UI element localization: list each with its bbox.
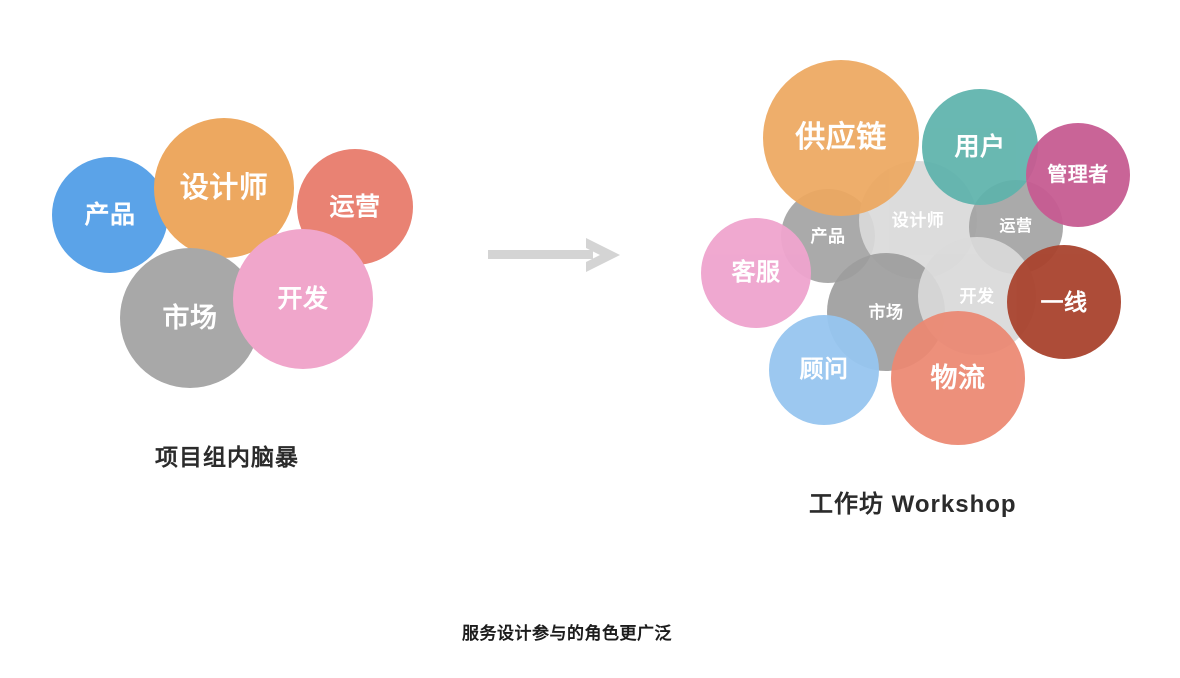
bubble-label: 客服 [732, 261, 781, 285]
bubble-customer-service[interactable]: 客服 [701, 218, 811, 328]
bubble-development[interactable]: 开发 [233, 229, 373, 369]
bubble-label: 开发 [277, 287, 328, 312]
bubble-label: 顾问 [800, 358, 849, 382]
bubble-label: 管理者 [1047, 165, 1109, 185]
bubble-logistics[interactable]: 物流 [891, 311, 1025, 445]
bubble-consultant[interactable]: 顾问 [769, 315, 879, 425]
bubble-label: 设计师 [892, 212, 945, 229]
bubble-label: 运营 [999, 219, 1032, 235]
right-cluster-caption: 工作坊 Workshop [809, 484, 1017, 519]
diagram-footnote: 服务设计参与的角色更广泛 [462, 619, 672, 644]
bubble-label: 一线 [1041, 291, 1088, 314]
bubble-label: 开发 [960, 288, 995, 305]
left-cluster-caption: 项目组内脑暴 [155, 438, 299, 472]
bubble-label: 物流 [931, 365, 986, 392]
bubble-label: 市场 [163, 305, 218, 332]
transition-arrow [488, 236, 620, 279]
bubble-label: 产品 [84, 203, 135, 228]
bubble-label: 供应链 [795, 123, 887, 153]
bubble-label: 市场 [869, 304, 904, 321]
bubble-supply-chain[interactable]: 供应链 [763, 60, 919, 216]
diagram-canvas: 产品设计师运营市场开发 产品设计师运营市场开发供应链用户管理者客服一线顾问物流 … [0, 0, 1180, 678]
bubble-label: 用户 [954, 135, 1005, 160]
bubble-user[interactable]: 用户 [922, 89, 1038, 205]
bubble-product[interactable]: 产品 [52, 157, 168, 273]
bubble-manager[interactable]: 管理者 [1026, 123, 1130, 227]
bubble-frontline[interactable]: 一线 [1007, 245, 1121, 359]
bubble-label: 设计师 [180, 174, 269, 203]
bubble-label: 产品 [811, 228, 846, 245]
bubble-label: 运营 [329, 195, 380, 220]
arrow-right-icon [488, 236, 620, 274]
